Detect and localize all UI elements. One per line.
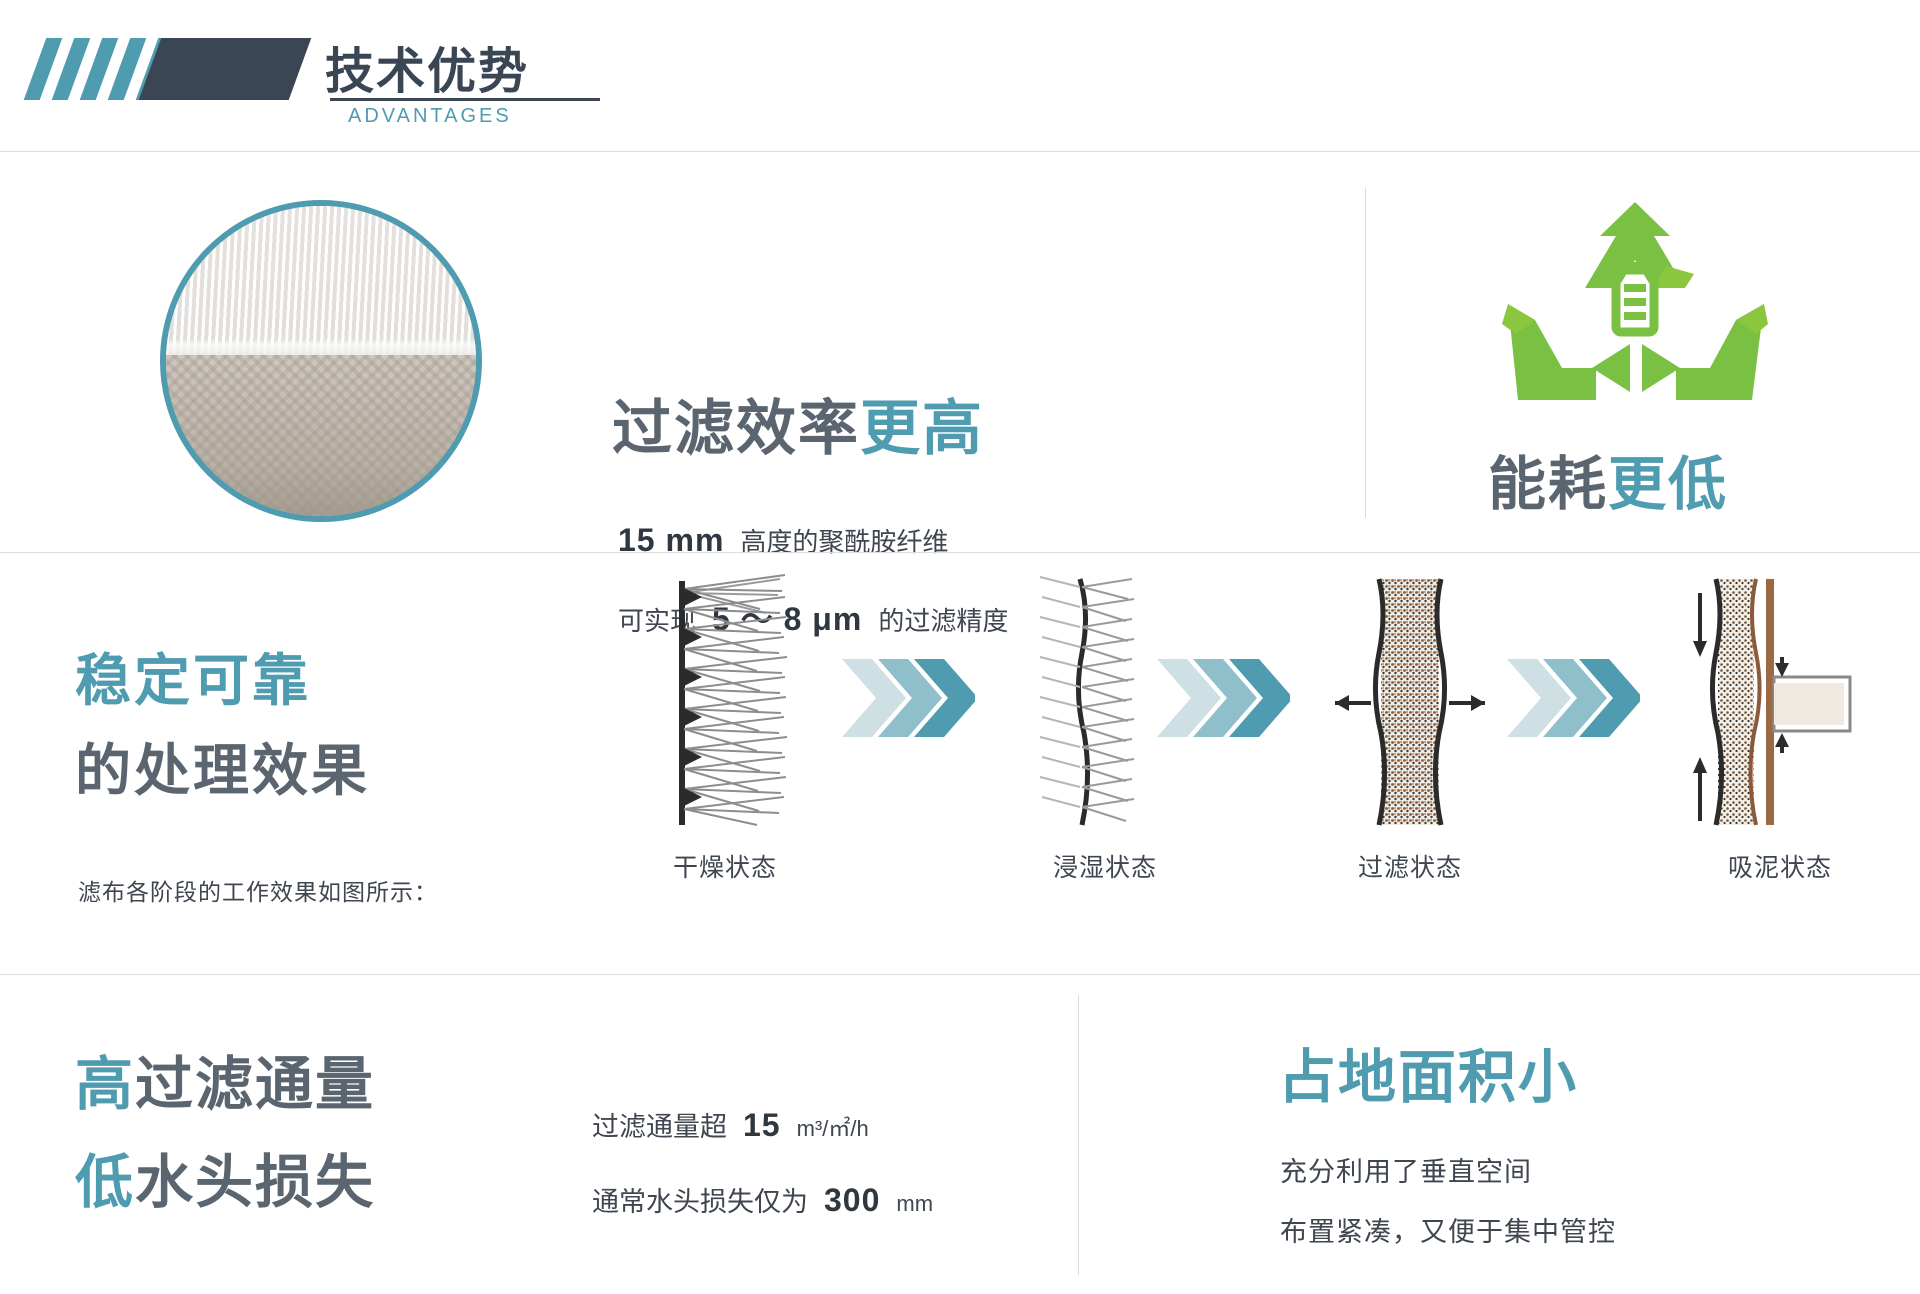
page-header: 技术优势 ADVANTAGES [0,0,1920,150]
section-filtration-efficiency: 过滤效率更高 15 mm高度的聚酰胺纤维 可实现5 ～ 8 μm的过滤精度 [0,152,1920,552]
page-subtitle: ADVANTAGES [348,105,512,128]
section1-right-title: 能耗更低 [1488,437,1920,521]
section1-title-part1: 过滤效率 [612,395,860,462]
section3-title-line1: 高过滤通量 [75,1037,375,1121]
section3-metric-1-value: 15 [743,1107,781,1143]
arrow-1 [840,653,975,743]
page-title: 技术优势 [325,32,529,103]
section1-right-title-part2: 更低 [1608,452,1728,517]
stage-2-caption: 浸湿状态 [1020,848,1190,884]
filter-cloth-photo [160,200,482,522]
section3-right-line1: 充分利用了垂直空间 [1280,1150,1532,1189]
recycle-battery-icon [1480,192,1790,432]
section3-title-line1-b: 过滤通量 [135,1052,375,1117]
section2-title-line1: 稳定可靠 [75,636,311,717]
section3-metric-2: 通常水头损失仅为300mm [592,1180,933,1219]
fiber-suction-icon [1690,573,1870,833]
section3-right-title: 占地面积小 [1278,1030,1578,1114]
header-dark-bar [139,38,312,100]
section1-title: 过滤效率更高 [612,380,984,467]
section3-title-line2-a: 低 [75,1150,135,1215]
fiber-dry-icon [640,573,810,833]
section2-title-line2: 的处理效果 [75,726,370,807]
fiber-filtering-icon [1325,573,1495,833]
chevron-right-icon [840,653,975,743]
section3-metric-1-prefix: 过滤通量超 [592,1112,727,1142]
section3-metric-2-value: 300 [824,1182,880,1218]
section2-note: 滤布各阶段的工作效果如图所示： [78,873,438,907]
arrow-2 [1155,653,1290,743]
stage-4-caption: 吸泥状态 [1690,848,1870,884]
section3-metric-2-prefix: 通常水头损失仅为 [592,1187,808,1217]
section3-title-line2-b: 水头损失 [135,1150,375,1215]
section3-title-line1-a: 高 [75,1052,135,1117]
stage-1: 干燥状态 [640,573,810,843]
section3-metric-1-unit: m³/㎡/h [797,1116,869,1141]
section3-metric-1: 过滤通量超15m³/㎡/h [592,1105,869,1144]
section3-right-line2: 布置紧凑，又便于集中管控 [1280,1210,1616,1249]
chevron-right-icon [1155,653,1290,743]
divider-vertical-section3 [1078,995,1079,1275]
divider-vertical-section1 [1365,188,1366,518]
arrow-3 [1505,653,1640,743]
stage-4: 吸泥状态 [1690,573,1860,843]
section-stable-treatment: 稳定可靠 的处理效果 滤布各阶段的工作效果如图所示： [0,553,1920,973]
stage-1-caption: 干燥状态 [640,848,810,884]
section3-title-line2: 低水头损失 [75,1135,375,1219]
advantages-page: 技术优势 ADVANTAGES 过滤效率更高 15 mm高度的聚酰胺纤维 可实现… [0,0,1920,1294]
photo-base-layer [166,355,476,516]
stage-3-caption: 过滤状态 [1325,848,1495,884]
chevron-right-icon [1505,653,1640,743]
section3-metric-2-unit: mm [896,1191,933,1216]
section1-title-part2: 更高 [860,395,984,462]
section-flux-and-footprint: 高过滤通量 低水头损失 过滤通量超15m³/㎡/h 通常水头损失仅为300mm … [0,975,1920,1294]
section1-right-title-part1: 能耗 [1488,452,1608,517]
stage-3: 过滤状态 [1325,573,1495,843]
